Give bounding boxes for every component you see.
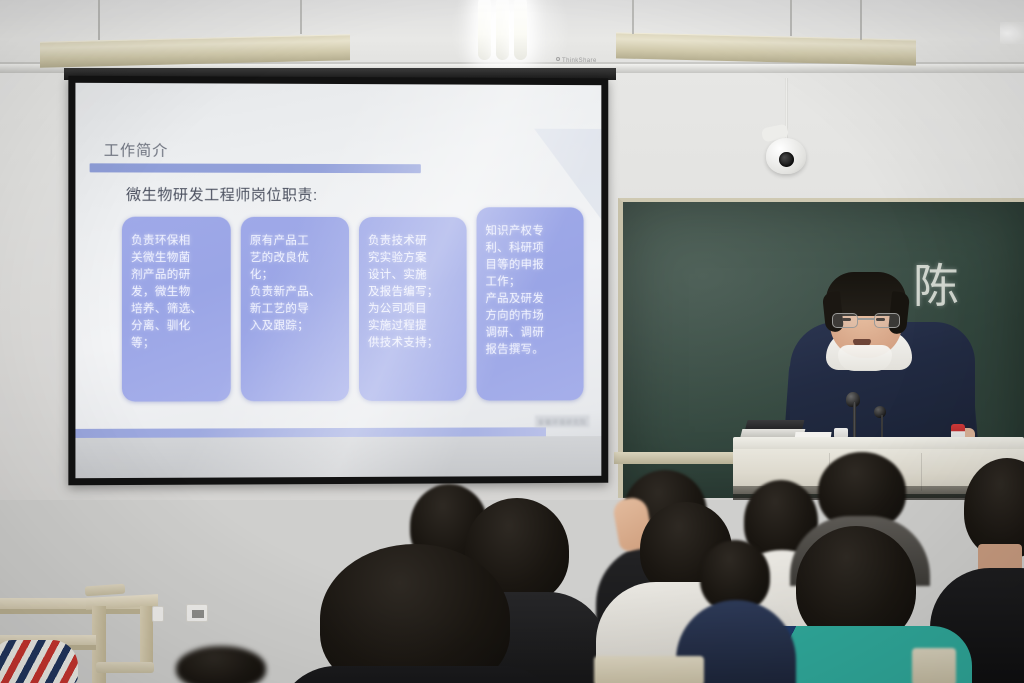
lecture-hall-scene: ThinkShare 陈合 木 工作简介 微生物研发工程师岗位职责: bbox=[0, 0, 1024, 683]
chair-back bbox=[594, 656, 704, 683]
chair-back bbox=[912, 648, 956, 683]
glasses-bridge bbox=[858, 318, 874, 320]
valance-hanger bbox=[98, 0, 100, 40]
speaker-mask bbox=[838, 345, 892, 371]
student-head-foreground bbox=[320, 544, 510, 683]
valance-hanger bbox=[632, 0, 634, 34]
brand-dot-icon bbox=[556, 57, 560, 61]
slide-box-2-text: 原有产品工 艺的改良优 化； 负责新产品、 新工艺的导 入及跟踪； bbox=[250, 233, 340, 335]
student-shoulders-foreground bbox=[276, 666, 562, 683]
slide-watermark: 安徽环境研究院 bbox=[535, 415, 589, 427]
glasses-lens-left bbox=[832, 313, 858, 328]
slide-box-4-text: 知识产权专 利、科研项 目等的申报 工作； 产品及研发 方向的市场 调研、调研 … bbox=[485, 223, 574, 359]
presentation-slide: 工作简介 微生物研发工程师岗位职责: 负责环保相 关微生物菌 剂产品的研 发，微… bbox=[75, 83, 601, 478]
audience-area bbox=[0, 440, 1024, 683]
slide-box-4: 知识产权专 利、科研项 目等的申报 工作； 产品及研发 方向的市场 调研、调研 … bbox=[477, 207, 584, 400]
lamp-tube bbox=[478, 0, 491, 60]
lamp-tube bbox=[514, 0, 527, 60]
valance-hanger bbox=[790, 0, 792, 36]
glasses-icon bbox=[832, 313, 900, 328]
valance-hanger bbox=[860, 0, 862, 40]
lamp-tube bbox=[496, 0, 509, 60]
microphone-head-icon-2 bbox=[874, 406, 886, 418]
student-head-right bbox=[964, 458, 1024, 558]
slide-content-boxes: 负责环保相 关微生物菌 剂产品的研 发，微生物 培养、筛选、 分离、驯化 等； … bbox=[122, 217, 592, 402]
projector-screen: 工作简介 微生物研发工程师岗位职责: 负责环保相 关微生物菌 剂产品的研 发，微… bbox=[68, 76, 608, 486]
microphone-stand-2 bbox=[881, 415, 883, 439]
slide-box-1-text: 负责环保相 关微生物菌 剂产品的研 发，微生物 培养、筛选、 分离、驯化 等； bbox=[131, 233, 222, 353]
glasses-lens-right bbox=[874, 313, 900, 328]
slide-box-2: 原有产品工 艺的改良优 化； 负责新产品、 新工艺的导 入及跟踪； bbox=[241, 217, 349, 401]
microphone-stand bbox=[853, 402, 856, 438]
camera-lens-icon bbox=[779, 152, 794, 167]
lamp-right-edge bbox=[1000, 22, 1024, 44]
slide-box-1: 负责环保相 关微生物菌 剂产品的研 发，微生物 培养、筛选、 分离、驯化 等； bbox=[122, 217, 231, 402]
student-head bbox=[176, 646, 266, 683]
thinkshare-brand-label: ThinkShare bbox=[556, 57, 597, 64]
valance-hanger bbox=[300, 0, 302, 34]
slide-box-3-text: 负责技术研 究实验方案 设计、实施 及报告编写； 为公司项目 实施过程提 供技术… bbox=[368, 233, 458, 352]
slide-box-3: 负责技术研 究实验方案 设计、实施 及报告编写； 为公司项目 实施过程提 供技术… bbox=[359, 217, 467, 401]
slide-title-accent-bar bbox=[90, 163, 421, 173]
slide-subtitle: 微生物研发工程师岗位职责: bbox=[126, 184, 318, 205]
fluorescent-lamp bbox=[470, 0, 540, 66]
slide-title: 工作简介 bbox=[104, 139, 169, 160]
